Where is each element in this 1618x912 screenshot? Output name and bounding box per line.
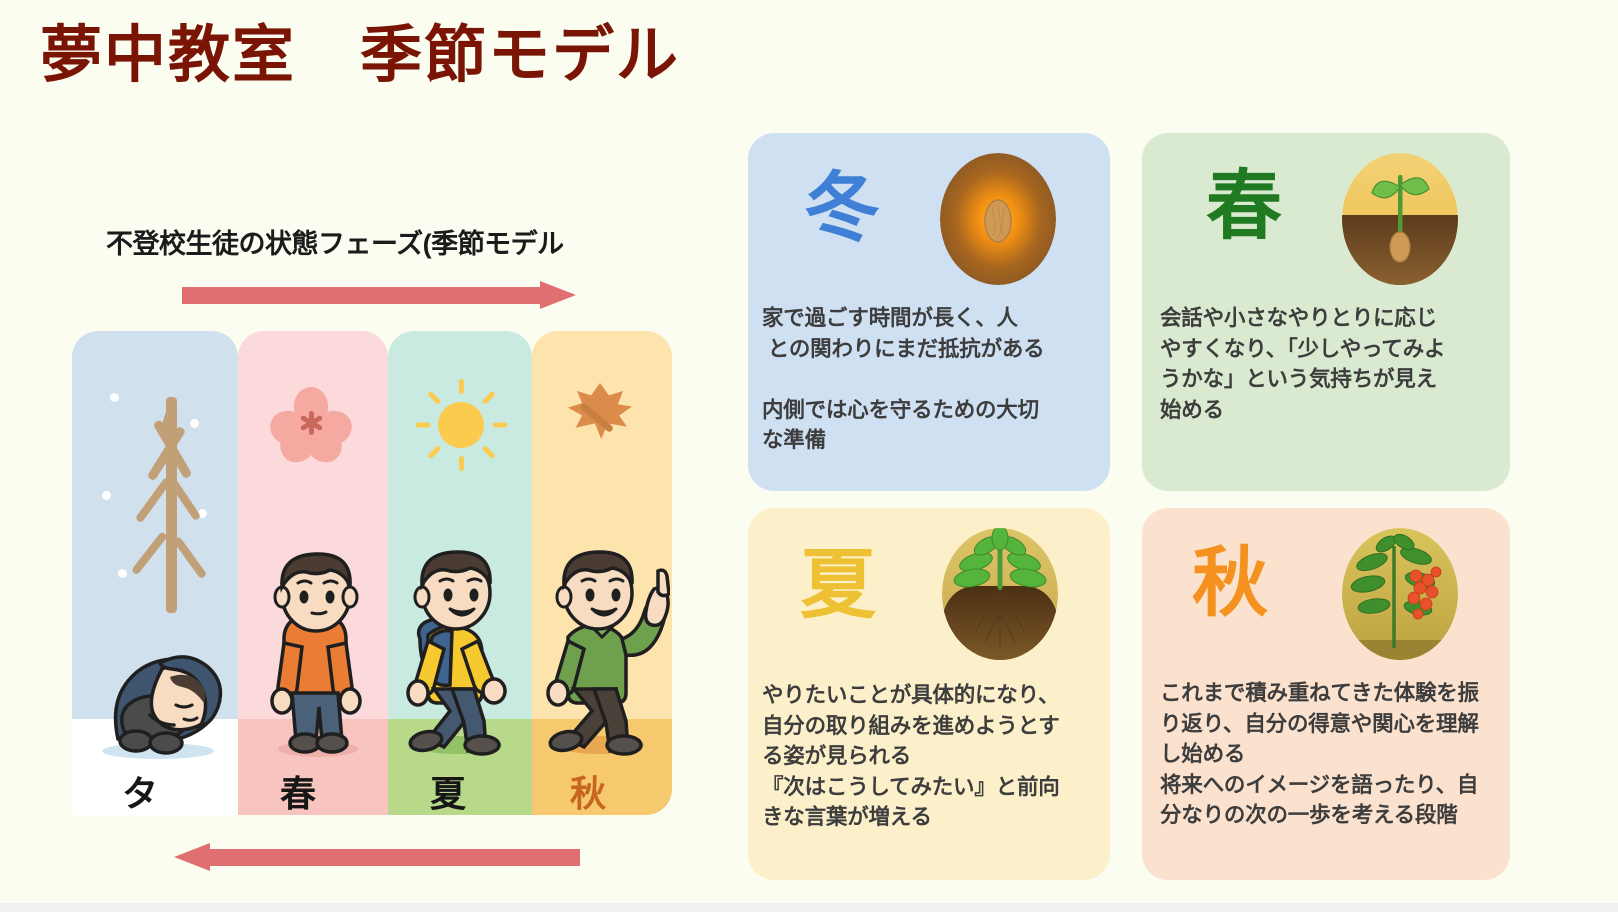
figure-walking-child-pointing-up [536,543,670,759]
sprout-thumbnail [1342,153,1458,285]
card-body-autumn: これまで積み重ねてきた体験を振 り返り、自分の得意や関心を理解 し始める 将来へ… [1146,678,1510,831]
illustration-column-winter [72,331,238,815]
arrow-shaft [210,849,580,866]
snowflake-icon [102,491,111,500]
card-header: 冬 [748,133,1110,297]
figure-crouched-hooded-child [90,609,230,759]
card-kanji-summer: 夏 [800,548,876,624]
arrow-shaft [182,287,544,304]
card-kanji-autumn: 秋 [1192,546,1268,622]
card-kanji-winter: 冬 [804,171,880,247]
illustration-column-spring [238,331,388,815]
card-kanji-spring: 春 [1206,169,1282,245]
sun-icon [415,379,507,471]
figure-walking-child-with-backpack [394,543,526,759]
illustration-subtitle: 不登校生徒の状態フェーズ(季節モデル [106,222,564,261]
season-card-summer[interactable]: 夏 [748,508,1110,880]
backward-regression-arrow [170,843,580,871]
page-title: 夢中教室 季節モデル [40,22,680,90]
card-body-summer: やりたいことが具体的になり、 自分の取り組みを進めようとす る姿が見られる 『次… [748,680,1110,833]
bare-tree-icon [124,383,218,613]
illustration-column-autumn [532,331,672,815]
slide-canvas: 夢中教室 季節モデル 不登校生徒の状態フェーズ(季節モデル [0,0,1618,912]
illustration-column-summer [388,331,532,815]
forward-progress-arrow [182,281,576,309]
figure-standing-child [260,545,372,759]
season-card-winter[interactable]: 冬 家で過ごす時間が長く、人 との [748,133,1110,491]
seed-in-soil-thumbnail [940,153,1056,285]
card-header: 春 [1142,133,1510,297]
card-body-spring: 会話や小さなやりとりに応じ やすくなり、「少しやってみよ うかな」という気持ちが… [1146,303,1510,425]
season-label-autumn: 秋 [548,765,628,817]
season-card-spring[interactable]: 春 [1142,133,1510,491]
season-card-autumn[interactable]: 秋 [1142,508,1510,880]
season-illustration-panel [72,331,672,815]
card-header: 夏 [748,508,1110,672]
maple-leaf-icon [558,379,644,467]
season-label-summer: 夏 [408,765,488,817]
cherry-blossom-icon [272,387,350,461]
card-header: 秋 [1142,508,1510,672]
season-label-winter: タ [100,765,180,817]
arrow-head-left [174,843,210,871]
card-body-winter: 家で過ごす時間が長く、人 との関わりにまだ抵抗がある 内側では心を守るための大切… [748,303,1110,456]
berry-plant-thumbnail [1342,528,1458,660]
season-label-spring: 春 [258,765,338,817]
arrow-head-right [540,281,576,309]
leafy-plant-thumbnail [942,528,1058,660]
bottom-strip [0,903,1618,912]
snowflake-icon [110,393,119,402]
